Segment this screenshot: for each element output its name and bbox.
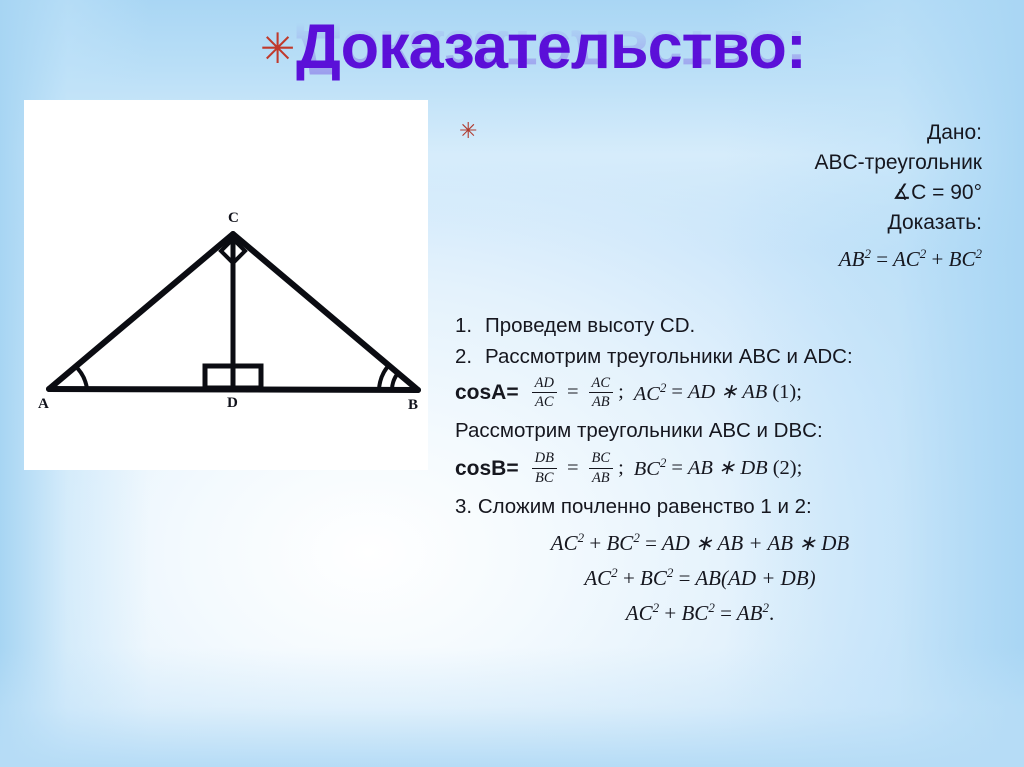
asterisk-bullet-icon: ✳ bbox=[459, 120, 477, 142]
proof-step-4: 3. Сложим почленно равенство 1 и 2: bbox=[455, 492, 1015, 522]
cos-b-result-lhs-text: BC bbox=[634, 458, 660, 480]
given-heading: Дано: bbox=[455, 118, 1000, 148]
prove-plus: + bbox=[932, 247, 944, 271]
final-1-rhs: AD ∗ AB + AB ∗ DB bbox=[662, 531, 849, 555]
slide-title-block: ✳ Доказательство: Доказательство: bbox=[258, 8, 958, 108]
prove-lhs-exponent: 2 bbox=[864, 246, 871, 261]
prove-term-2-exponent: 2 bbox=[975, 246, 982, 261]
final-2-term-a: AC bbox=[584, 566, 611, 590]
cos-b-result-exponent: 2 bbox=[660, 456, 666, 470]
prove-heading: Доказать: bbox=[455, 208, 1000, 238]
cos-b-fraction-2-numerator: BC bbox=[589, 450, 614, 467]
final-equation-2: AC2 + BC2 = AB(AD + DB) bbox=[455, 558, 1015, 593]
cos-b-fraction-1-numerator: DB bbox=[532, 450, 557, 467]
final-1-term-b-exponent: 2 bbox=[633, 530, 640, 545]
cos-a-semicolon: ; bbox=[618, 382, 624, 403]
final-2-term-b: BC bbox=[640, 566, 667, 590]
cos-a-fraction-1-denominator: AC bbox=[532, 392, 557, 410]
step-2-text: Рассмотрим треугольники ABC и ADC: bbox=[485, 343, 853, 371]
cos-b-equals-1: = bbox=[567, 458, 579, 479]
page-title: Доказательство: bbox=[296, 14, 806, 80]
cos-b-result-rhs: AB ∗ DB bbox=[688, 458, 768, 479]
final-3-term-b-exponent: 2 bbox=[708, 600, 715, 615]
cos-b-fraction-1-denominator: BC bbox=[532, 468, 557, 486]
step-4-text: Сложим почленно равенство 1 и 2: bbox=[478, 495, 812, 518]
final-equation-1: AC2 + BC2 = AD ∗ AB + AB ∗ DB bbox=[455, 523, 1015, 558]
given-angle: ∡C = 90° bbox=[455, 178, 1000, 208]
final-3-rhs: AB bbox=[737, 601, 763, 625]
background-gradient-bottom bbox=[0, 647, 1024, 767]
proof-steps-block: 1. Проведем высоту CD. 2. Рассмотрим тре… bbox=[455, 312, 1015, 628]
cos-a-fraction-1-numerator: AD bbox=[532, 375, 557, 392]
cos-b-result-tag: (2); bbox=[773, 458, 803, 479]
cos-b-equation: cosB= DB BC = BC AB ; BC2 = AB ∗ DB (2); bbox=[455, 450, 1015, 485]
proof-step-2: 2. Рассмотрим треугольники ABC и ADC: bbox=[455, 343, 1015, 371]
final-3-plus: + bbox=[664, 601, 676, 625]
cos-b-fraction-2: BC AB bbox=[589, 450, 614, 485]
cos-b-fraction-2-denominator: AB bbox=[589, 468, 613, 486]
cos-a-result-exponent: 2 bbox=[660, 381, 666, 395]
vertex-label-b: B bbox=[408, 397, 418, 413]
cos-a-result-equals: = bbox=[671, 382, 683, 403]
cos-a-equation: cosA= AD AC = AC AB ; AC2 = AD ∗ AB (1); bbox=[455, 375, 1015, 410]
vertex-label-a: A bbox=[38, 396, 49, 412]
right-angle-mark-d-left bbox=[205, 366, 233, 388]
proof-step-3-text: Рассмотрим треугольники ABC и DBC: bbox=[455, 416, 1015, 446]
cos-b-result-equals: = bbox=[671, 458, 683, 479]
cos-a-label: cosA= bbox=[455, 382, 519, 403]
triangle-figure-panel: A B C D bbox=[24, 100, 428, 470]
cos-a-fraction-1: AD AC bbox=[532, 375, 557, 410]
prove-equation: AB2 = AC2 + BC2 bbox=[455, 238, 1000, 275]
given-block: ✳ Дано: ABC-треугольник ∡C = 90° Доказат… bbox=[455, 118, 1000, 275]
final-2-term-b-exponent: 2 bbox=[667, 565, 674, 580]
cos-a-fraction-2: AC AB bbox=[589, 375, 614, 410]
angle-arc-b-outer bbox=[379, 364, 390, 390]
triangle-diagram: A B C D bbox=[24, 100, 428, 470]
cos-a-result-lhs: AC2 bbox=[634, 382, 667, 404]
final-1-plus: + bbox=[589, 531, 601, 555]
final-2-term-a-exponent: 2 bbox=[611, 565, 618, 580]
angle-arc-a bbox=[74, 365, 87, 389]
cos-b-result-lhs: BC2 bbox=[634, 457, 667, 479]
cos-a-fraction-2-denominator: AB bbox=[589, 392, 613, 410]
given-triangle: ABC-треугольник bbox=[455, 148, 1000, 178]
final-2-equals: = bbox=[679, 566, 691, 590]
cos-b-fraction-1: DB BC bbox=[532, 450, 557, 485]
asterisk-bullet-icon: ✳ bbox=[260, 28, 295, 70]
step-1-number: 1. bbox=[455, 312, 485, 340]
final-1-term-a-exponent: 2 bbox=[578, 530, 585, 545]
prove-term-2: BC bbox=[949, 247, 976, 271]
cos-a-equals-1: = bbox=[567, 382, 579, 403]
prove-term-1-exponent: 2 bbox=[920, 246, 927, 261]
cos-a-fraction-2-numerator: AC bbox=[589, 375, 614, 392]
final-1-equals: = bbox=[645, 531, 657, 555]
final-3-term-a: AC bbox=[626, 601, 653, 625]
cos-a-result-tag: (1); bbox=[772, 382, 802, 403]
final-2-plus: + bbox=[623, 566, 635, 590]
final-3-period: . bbox=[769, 601, 774, 625]
prove-lhs: AB bbox=[839, 247, 865, 271]
cos-a-result-rhs: AD ∗ AB bbox=[688, 382, 767, 403]
vertex-label-d: D bbox=[227, 395, 238, 411]
slide-canvas: ✳ Доказательство: Доказательство: bbox=[0, 0, 1024, 767]
prove-term-1: AC bbox=[893, 247, 920, 271]
vertex-label-c: C bbox=[228, 210, 239, 226]
final-3-term-b: BC bbox=[681, 601, 708, 625]
cos-a-result-lhs-text: AC bbox=[634, 382, 660, 404]
prove-equals: = bbox=[876, 247, 888, 271]
proof-step-1: 1. Проведем высоту CD. bbox=[455, 312, 1015, 340]
step-2-number: 2. bbox=[455, 343, 485, 371]
final-3-term-a-exponent: 2 bbox=[653, 600, 660, 615]
right-angle-mark-d-right bbox=[233, 366, 261, 388]
cos-b-semicolon: ; bbox=[618, 458, 624, 479]
cos-b-label: cosB= bbox=[455, 458, 519, 479]
step-4-number: 3. bbox=[455, 495, 472, 518]
final-1-term-b: BC bbox=[606, 531, 633, 555]
final-2-rhs: AB(AD + DB) bbox=[695, 566, 815, 590]
step-1-text: Проведем высоту CD. bbox=[485, 312, 695, 340]
final-3-equals: = bbox=[720, 601, 732, 625]
final-1-term-a: AC bbox=[551, 531, 578, 555]
final-equation-3: AC2 + BC2 = AB2. bbox=[455, 593, 1015, 628]
